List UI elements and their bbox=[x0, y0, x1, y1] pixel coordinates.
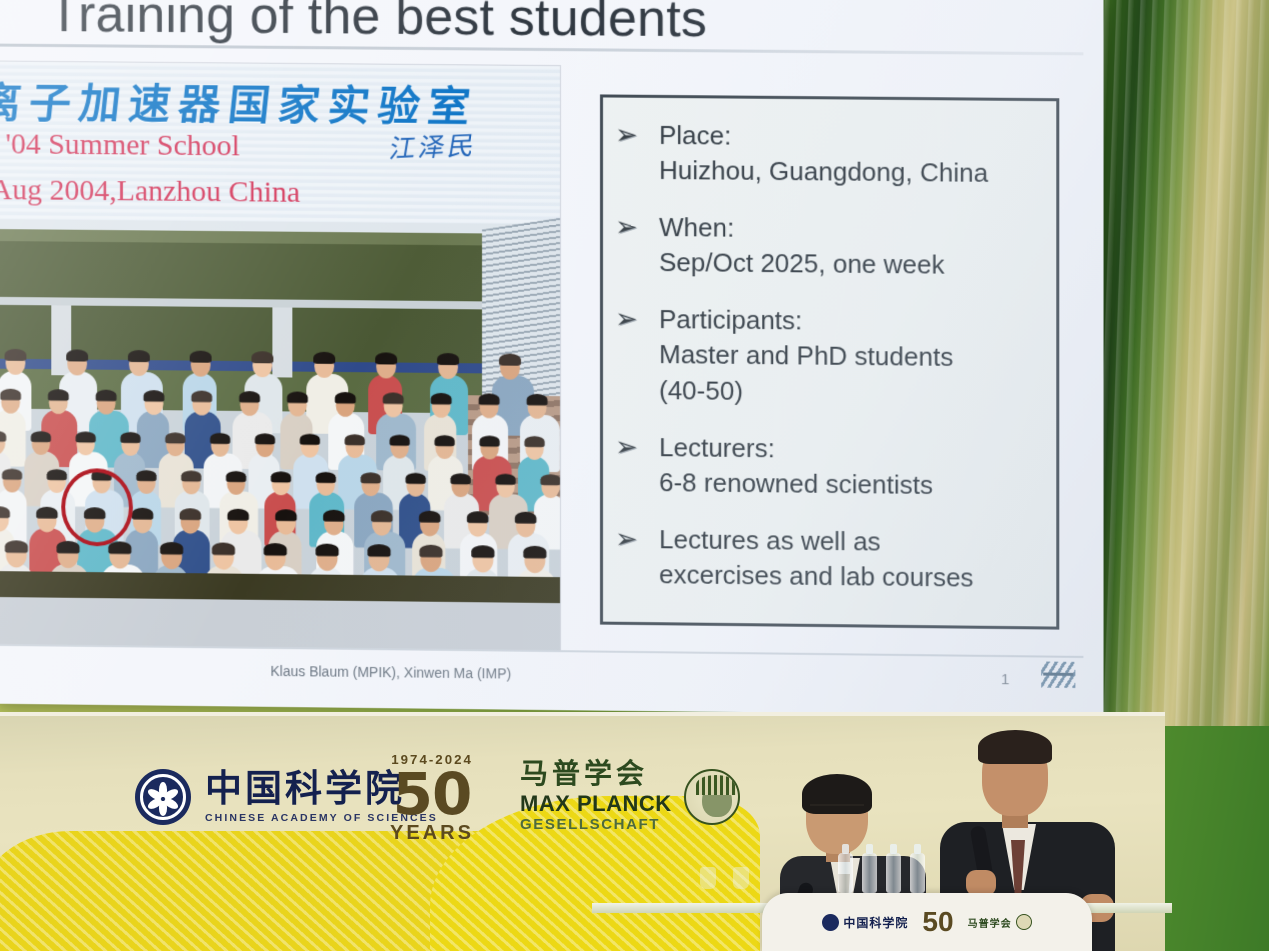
water-bottle bbox=[886, 853, 901, 893]
drinking-glass bbox=[700, 867, 716, 889]
bullet-detail: excercises and lab courses bbox=[659, 557, 973, 596]
list-item: ➢ Participants: Master and PhD students … bbox=[615, 302, 1042, 412]
arrow-bullet-icon: ➢ bbox=[615, 302, 659, 333]
list-item: ➢ Lecturers: 6-8 renowned scientists bbox=[615, 429, 1042, 504]
water-bottle bbox=[862, 853, 877, 893]
minerva-head-icon bbox=[684, 769, 740, 825]
podium-cas-logo: 中国科学院 bbox=[822, 914, 908, 931]
bullet-heading: Place: bbox=[659, 118, 988, 156]
water-bottle bbox=[838, 853, 853, 893]
podium-cas-name: 中国科学院 bbox=[843, 914, 908, 931]
red-circle-annotation bbox=[61, 468, 133, 547]
bullet-detail: Sep/Oct 2025, one week bbox=[659, 245, 944, 283]
slide-page-number: 1 bbox=[1001, 671, 1009, 688]
water-bottle bbox=[910, 853, 925, 893]
bullet-detail: Master and PhD students bbox=[659, 338, 953, 376]
banner-signature: 江泽民 bbox=[387, 125, 481, 166]
slide-footer-authors: Klaus Blaum (MPIK), Xinwen Ma (IMP) bbox=[270, 663, 511, 682]
podium-anniversary-number: 50 bbox=[922, 908, 953, 936]
bullet-heading: When: bbox=[659, 210, 944, 248]
cas-flower-icon bbox=[822, 914, 839, 931]
podium-max-planck-name: 马普学会 bbox=[968, 915, 1012, 930]
podium-max-planck-logo: 马普学会 bbox=[968, 914, 1032, 930]
page-title: Training of the best students bbox=[48, 0, 707, 49]
anniversary-label: YEARS bbox=[390, 822, 474, 845]
stage-background: Training of the best students 离子加速器国家实验室… bbox=[0, 0, 1269, 951]
max-planck-chinese-name: 马普学会 bbox=[520, 760, 672, 788]
banner-chinese-text: 离子加速器国家实验室 bbox=[0, 69, 526, 134]
anniversary-years-range: 1974-2024 bbox=[391, 752, 473, 767]
bullet-detail: Huizhou, Guangdong, China bbox=[659, 153, 988, 191]
bullet-heading: Participants: bbox=[659, 302, 953, 340]
arrow-bullet-icon: ➢ bbox=[615, 210, 659, 241]
max-planck-logo: 马普学会 MAX PLANCK GESELLSCHAFT bbox=[520, 760, 740, 833]
bullet-detail-2: (40-50) bbox=[659, 373, 953, 411]
list-item: ➢ Place: Huizhou, Guangdong, China bbox=[615, 118, 1042, 192]
group-photo: 离子加速器国家实验室 '04 Summer School 江泽民 7Aug 20… bbox=[0, 61, 560, 651]
slide-bullet-box: ➢ Place: Huizhou, Guangdong, China ➢ Whe… bbox=[600, 94, 1059, 629]
max-planck-subtitle: GESELLSCHAFT bbox=[520, 816, 672, 833]
anniversary-logo: 1974-2024 50 YEARS bbox=[390, 752, 474, 845]
arrow-bullet-icon: ➢ bbox=[615, 522, 659, 553]
banner-summer-school-text: '04 Summer School bbox=[6, 127, 240, 163]
drinking-glass bbox=[733, 867, 749, 889]
projection-screen: Training of the best students 离子加速器国家实验室… bbox=[0, 0, 1104, 716]
list-item: ➢ Lectures as well as excercises and lab… bbox=[615, 522, 1042, 597]
imp-accelerator-icon bbox=[1041, 662, 1075, 688]
arrow-bullet-icon: ➢ bbox=[615, 429, 659, 460]
photo-banner: 离子加速器国家实验室 '04 Summer School 江泽民 7Aug 20… bbox=[0, 61, 560, 226]
podium: 中国科学院 50 马普学会 bbox=[762, 893, 1092, 951]
photo-ground bbox=[0, 571, 560, 651]
bullet-detail: 6-8 renowned scientists bbox=[659, 465, 933, 503]
bullet-heading: Lectures as well as bbox=[659, 522, 973, 560]
bullet-heading: Lecturers: bbox=[659, 430, 933, 468]
list-item: ➢ When: Sep/Oct 2025, one week bbox=[615, 210, 1042, 284]
banner-date-location-text: 7Aug 2004,Lanzhou China bbox=[0, 173, 300, 210]
arrow-bullet-icon: ➢ bbox=[615, 118, 659, 149]
max-planck-name: MAX PLANCK bbox=[520, 791, 672, 817]
minerva-head-icon bbox=[1016, 914, 1032, 930]
anniversary-number: 50 bbox=[393, 767, 472, 822]
cas-flower-icon bbox=[135, 769, 191, 825]
eyeglasses-icon bbox=[810, 804, 864, 816]
